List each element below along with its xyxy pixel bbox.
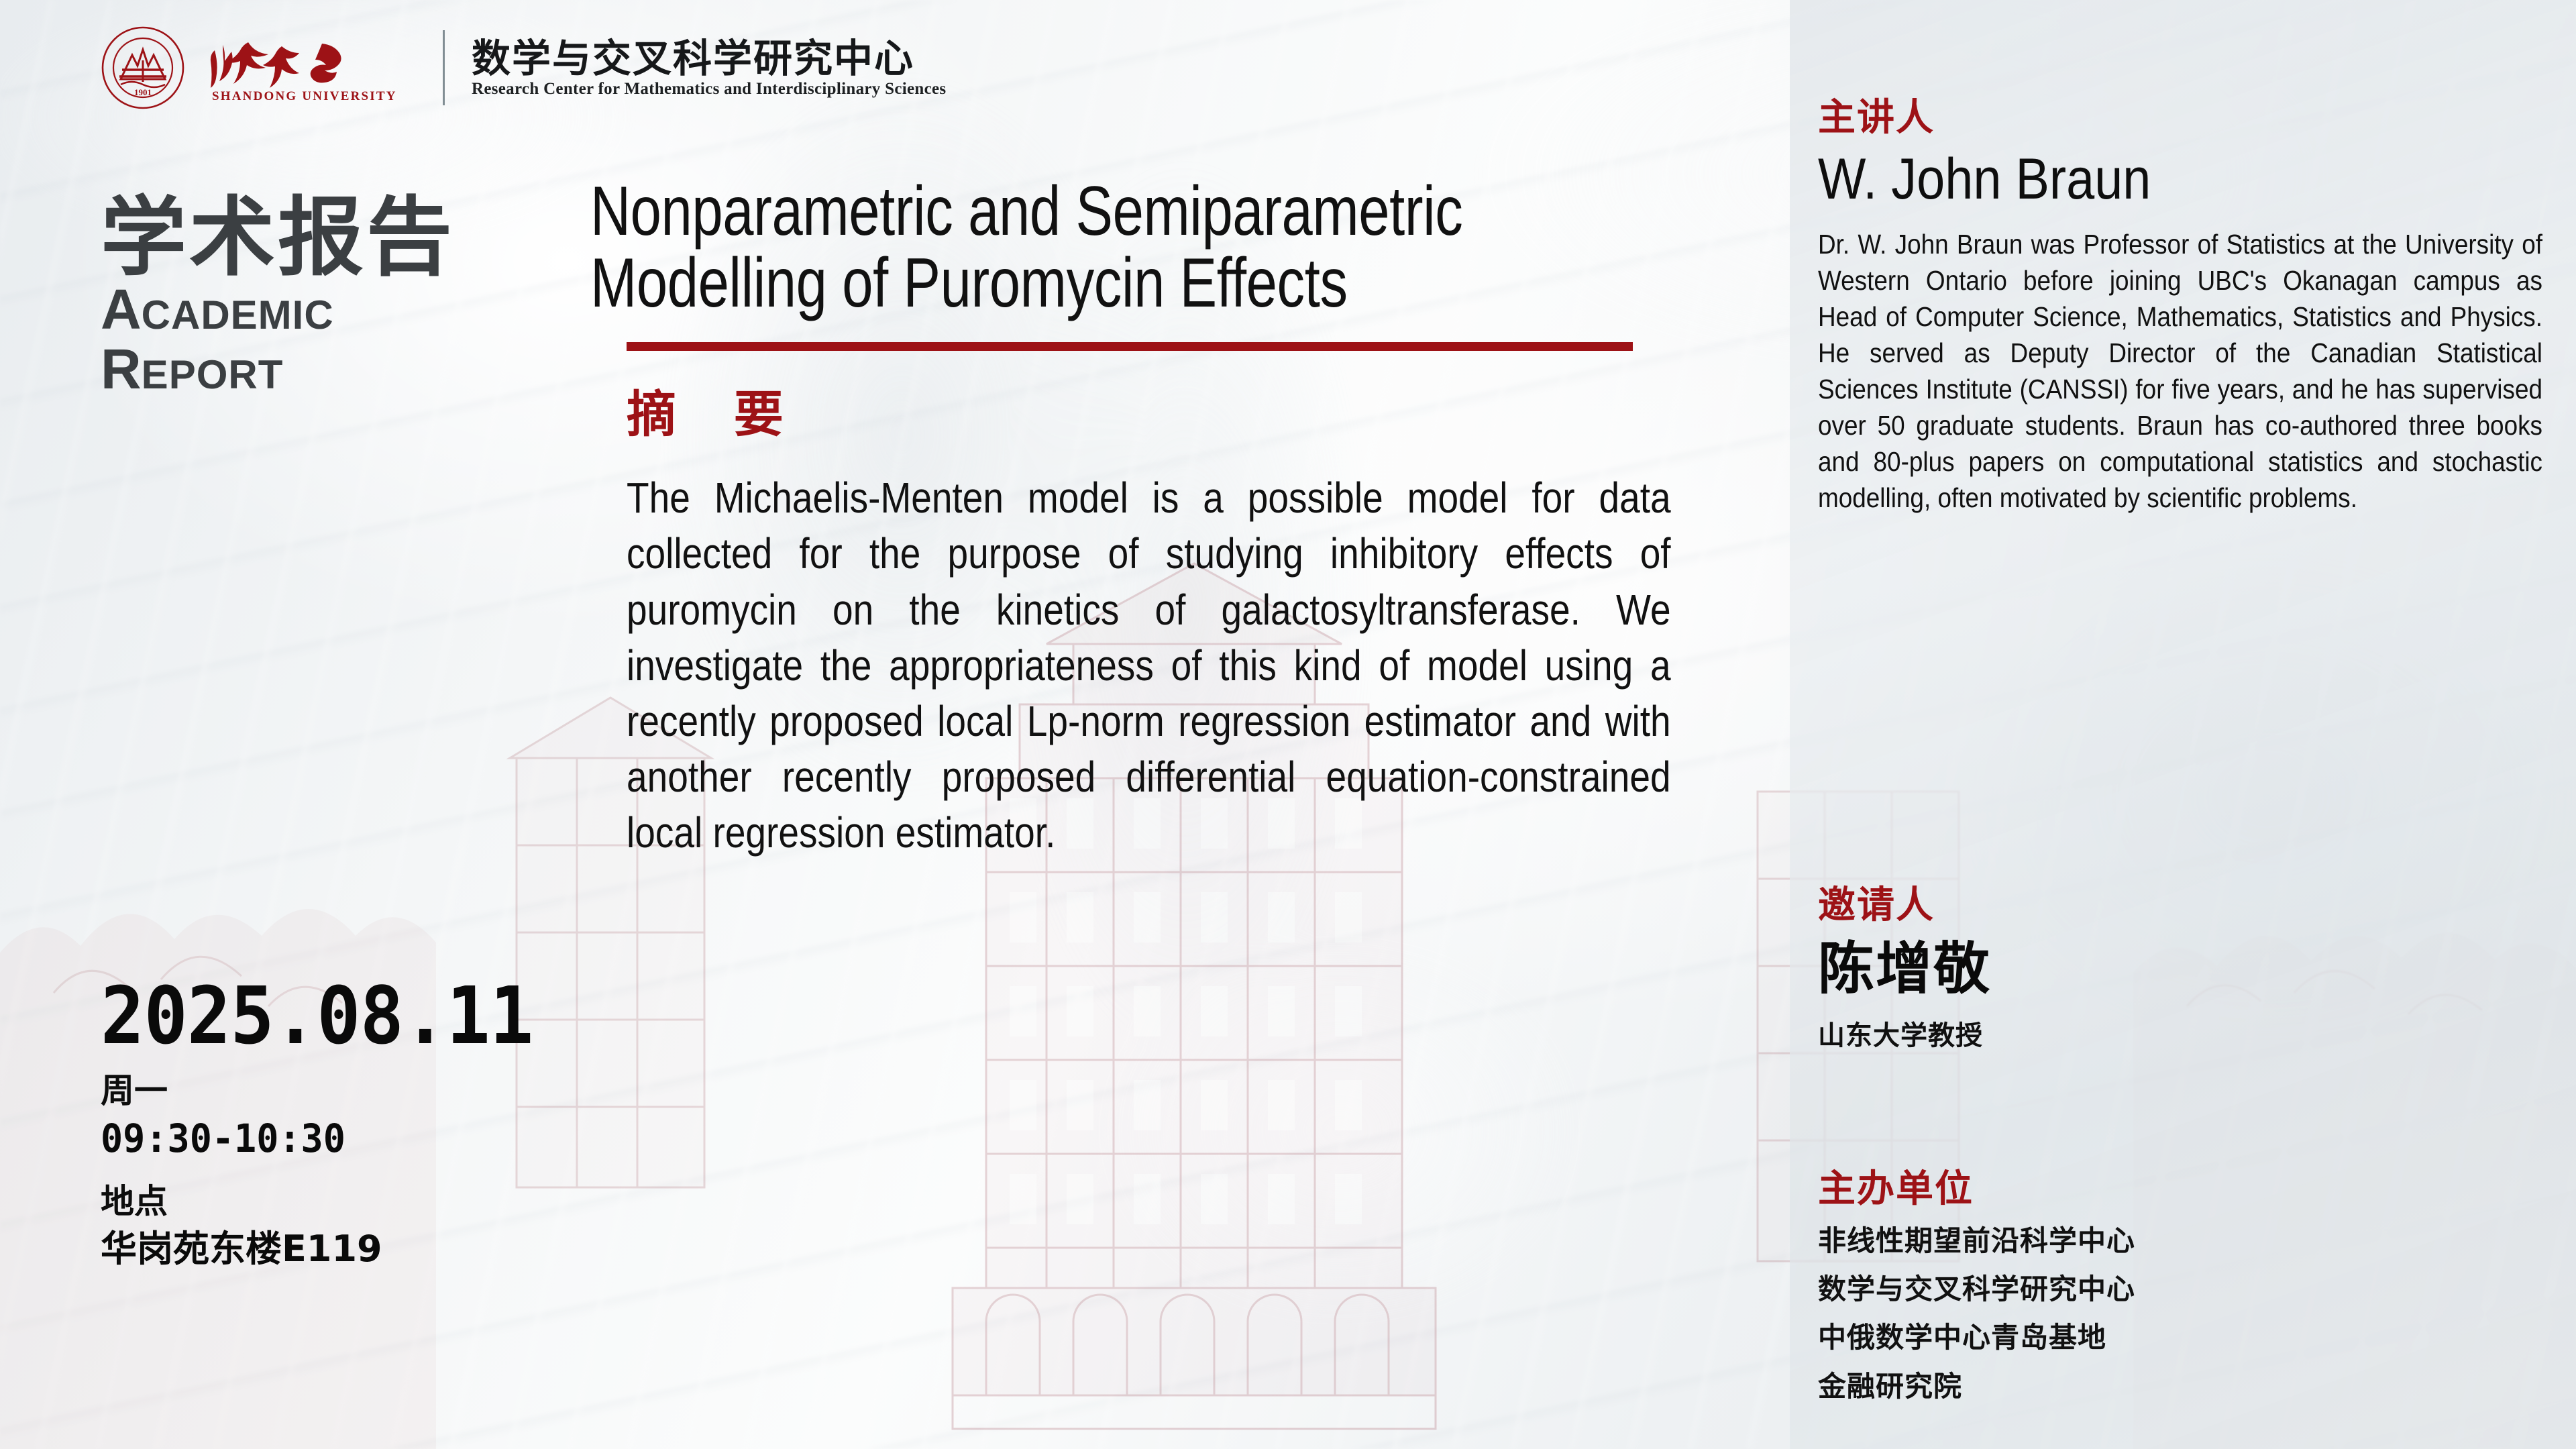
poster-root: 1901 SHANDONG UNIVERSITY 数学与交叉科学研究中心 Res… (0, 0, 2576, 1449)
report-rest: EPORT (142, 354, 284, 396)
academic-initial: A (101, 280, 142, 339)
organizer-section: 主办单位 非线性期望前沿科学中心 数学与交叉科学研究中心 中俄数学中心青岛基地 … (1818, 1171, 2556, 1402)
date-location-block: 2025.08.11 周一 09:30-10:30 地点 华岗苑东楼E119 (101, 976, 610, 1270)
speaker-bio: Dr. W. John Braun was Professor of Stati… (1818, 227, 2542, 516)
academic-rest: CADEMIC (142, 294, 334, 337)
inviter-section: 邀请人 陈增敬 山东大学教授 (1818, 887, 2556, 1051)
report-kind-en: ACADEMIC REPORT (101, 280, 584, 399)
sdu-english-wordmark: SHANDONG UNIVERSITY (212, 89, 397, 103)
inviter-name: 陈增敬 (1818, 939, 2556, 998)
inviter-affiliation: 山东大学教授 (1818, 1021, 2556, 1051)
abstract-body: The Michaelis-Menten model is a possible… (627, 470, 1671, 861)
poster-header: 1901 SHANDONG UNIVERSITY 数学与交叉科学研究中心 Res… (101, 25, 946, 110)
center-column: Nonparametric and Semiparametric Modelli… (590, 176, 1664, 861)
header-divider (443, 30, 445, 105)
center-name-cn: 数学与交叉科学研究中心 (472, 39, 946, 78)
abstract-heading: 摘 要 (627, 390, 1664, 439)
event-time: 09:30-10:30 (101, 1118, 585, 1161)
report-kind-cn: 学术报告 (101, 195, 584, 282)
speaker-bio-text: Dr. W. John Braun was Professor of Stati… (1818, 227, 2542, 516)
list-item: 数学与交叉科学研究中心 (1818, 1274, 2556, 1305)
academic-line: ACADEMIC (101, 280, 584, 339)
shandong-university-seal-icon: 1901 (101, 25, 185, 110)
sdu-chinese-wordmark-icon: SHANDONG UNIVERSITY (203, 30, 416, 105)
talk-title: Nonparametric and Semiparametric Modelli… (590, 176, 1664, 319)
list-item: 非线性期望前沿科学中心 (1818, 1226, 2556, 1256)
center-name-en: Research Center for Mathematics and Inte… (472, 80, 946, 97)
left-column: 学术报告 ACADEMIC REPORT (101, 195, 584, 399)
abstract-text: The Michaelis-Menten model is a possible… (627, 470, 1671, 861)
report-initial: R (101, 339, 142, 399)
title-underline-rule (627, 342, 1633, 351)
inviter-heading: 邀请人 (1818, 887, 2556, 924)
talk-title-line2: Modelling of Puromycin Effects (590, 248, 1664, 319)
talk-title-line1: Nonparametric and Semiparametric (590, 176, 1664, 248)
organizer-list: 非线性期望前沿科学中心 数学与交叉科学研究中心 中俄数学中心青岛基地 金融研究院 (1818, 1226, 2556, 1402)
svg-text:1901: 1901 (134, 87, 152, 97)
event-weekday: 周一 (101, 1073, 610, 1110)
header-center-name: 数学与交叉科学研究中心 Research Center for Mathemat… (472, 39, 946, 97)
speaker-sidebar: 主讲人 W. John Braun Dr. W. John Braun was … (1790, 0, 2576, 1449)
location-label: 地点 (101, 1183, 610, 1220)
location-value: 华岗苑东楼E119 (101, 1228, 610, 1270)
speaker-section: 主讲人 W. John Braun Dr. W. John Braun was … (1818, 99, 2556, 517)
speaker-name: W. John Braun (1818, 149, 2556, 209)
event-date: 2025.08.11 (101, 976, 570, 1055)
list-item: 金融研究院 (1818, 1371, 2556, 1402)
list-item: 中俄数学中心青岛基地 (1818, 1322, 2556, 1353)
organizer-heading: 主办单位 (1818, 1171, 2556, 1208)
speaker-heading: 主讲人 (1818, 99, 2556, 137)
report-line: REPORT (101, 339, 584, 399)
